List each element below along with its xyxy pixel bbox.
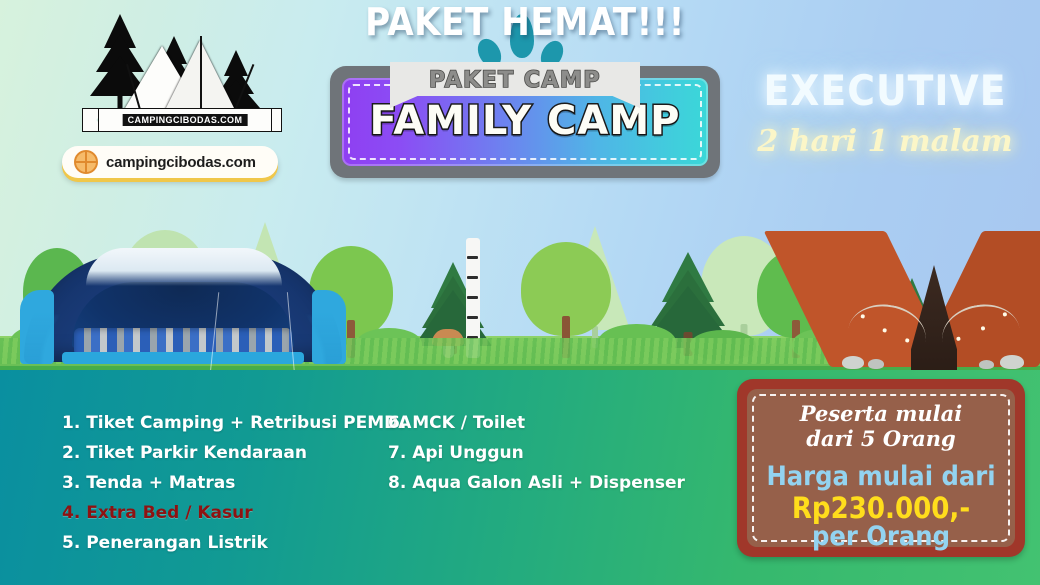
promo-poster: CAMPINGCIBODAS.COM campingcibodas.com FA…	[0, 0, 1040, 585]
list-item: 2. Tiket Parkir Kendaraan	[62, 438, 411, 468]
glamping-a-frame-tent	[828, 213, 1040, 373]
package-tier: EXECUTIVE	[740, 66, 1030, 115]
list-item: 6. MCK / Toilet	[388, 408, 685, 438]
list-item: 8. Aqua Galon Asli + Dispenser	[388, 468, 685, 498]
tagline: PAKET HEMAT!!!	[330, 0, 720, 44]
min-participants: Peserta mulai dari 5 Orang	[747, 401, 1015, 451]
list-item-highlighted: 4. Extra Bed / Kasur	[62, 498, 411, 528]
list-item: 3. Tenda + Matras	[62, 468, 411, 498]
min-participants-line-2: dari 5 Orang	[806, 426, 955, 451]
price-label: Harga mulai dari	[747, 461, 1015, 492]
list-item: 1. Tiket Camping + Retribusi PEMDA	[62, 408, 411, 438]
website-label: campingcibodas.com	[106, 154, 256, 171]
price-amount: Rp230.000,-	[747, 491, 1015, 525]
package-duration: 2 hari 1 malam	[740, 124, 1030, 159]
tagline-wrap: PAKET HEMAT!!!	[330, 0, 720, 44]
price-unit: per Orang	[747, 521, 1015, 552]
features-column-right: 6. MCK / Toilet 7. Api Unggun 8. Aqua Ga…	[388, 408, 685, 498]
website-pill[interactable]: campingcibodas.com	[62, 146, 278, 178]
list-item: 5. Penerangan Listrik	[62, 528, 411, 558]
paket-camp-label: PAKET CAMP	[390, 68, 640, 93]
features-column-left: 1. Tiket Camping + Retribusi PEMDA 2. Ti…	[62, 408, 411, 558]
logo-ribbon: CAMPINGCIBODAS.COM	[98, 108, 272, 132]
globe-icon	[74, 150, 98, 174]
min-participants-line-1: Peserta mulai	[800, 401, 963, 426]
price-box-inner: Peserta mulai dari 5 Orang Harga mulai d…	[747, 389, 1015, 547]
logo-ribbon-text: CAMPINGCIBODAS.COM	[123, 114, 248, 126]
list-item: 7. Api Unggun	[388, 438, 685, 468]
tent-logo-icon: CAMPINGCIBODAS.COM	[82, 14, 282, 134]
price-box: Peserta mulai dari 5 Orang Harga mulai d…	[737, 379, 1025, 557]
